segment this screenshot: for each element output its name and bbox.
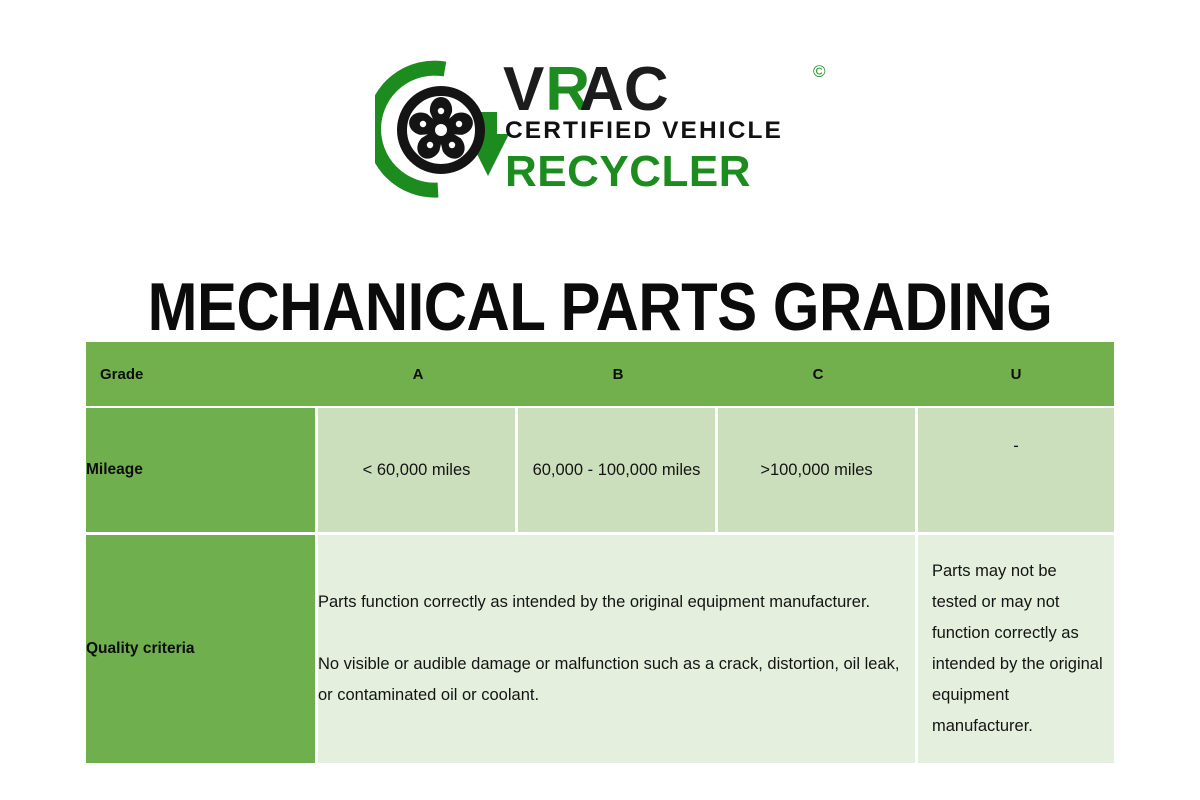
- copyright-icon: ©: [813, 63, 826, 80]
- vrac-logo: VRAC © CERTIFIED VEHICLE RECYCLER: [375, 55, 845, 205]
- logo-tagline: CERTIFIED VEHICLE: [505, 117, 783, 145]
- cell-mileage-b: 60,000 - 100,000 miles: [518, 408, 718, 535]
- quality-paragraph-1: Parts function correctly as intended by …: [318, 587, 915, 618]
- brand-letter-c: C: [624, 55, 668, 124]
- logo-wordmark-group: VRAC © CERTIFIED VEHICLE RECYCLER: [503, 55, 848, 200]
- table-row-quality-criteria: Quality criteria Parts function correctl…: [86, 535, 1114, 763]
- logo-wordmark-recycler: RECYCLER: [505, 147, 751, 197]
- quality-paragraph-2: No visible or audible damage or malfunct…: [318, 649, 915, 711]
- cell-mileage-u: -: [918, 408, 1114, 535]
- column-header-a: A: [318, 342, 518, 408]
- column-header-c: C: [718, 342, 918, 408]
- brand-letter-a: A: [579, 55, 623, 124]
- column-header-b: B: [518, 342, 718, 408]
- cell-quality-criteria-u: Parts may not be tested or may not funct…: [918, 535, 1114, 763]
- cell-quality-criteria-abc: Parts function correctly as intended by …: [318, 535, 918, 763]
- brand-letter-v: V: [503, 55, 543, 124]
- cell-mileage-c: >100,000 miles: [718, 408, 918, 535]
- table-row-mileage: Mileage < 60,000 miles 60,000 - 100,000 …: [86, 408, 1114, 535]
- mechanical-parts-grading-table: Grade A B C U Mileage < 60,000 miles 60,…: [86, 342, 1114, 763]
- column-header-u: U: [918, 342, 1114, 408]
- row-label-quality-criteria: Quality criteria: [86, 535, 318, 763]
- table-header-row: Grade A B C U: [86, 342, 1114, 408]
- page-title: MECHANICAL PARTS GRADING: [72, 268, 1128, 346]
- column-header-grade: Grade: [86, 342, 318, 408]
- cell-mileage-a: < 60,000 miles: [318, 408, 518, 535]
- row-label-mileage: Mileage: [86, 408, 318, 535]
- brand-name: VRAC: [503, 59, 668, 121]
- recycling-wheel-logo-icon: [375, 60, 515, 200]
